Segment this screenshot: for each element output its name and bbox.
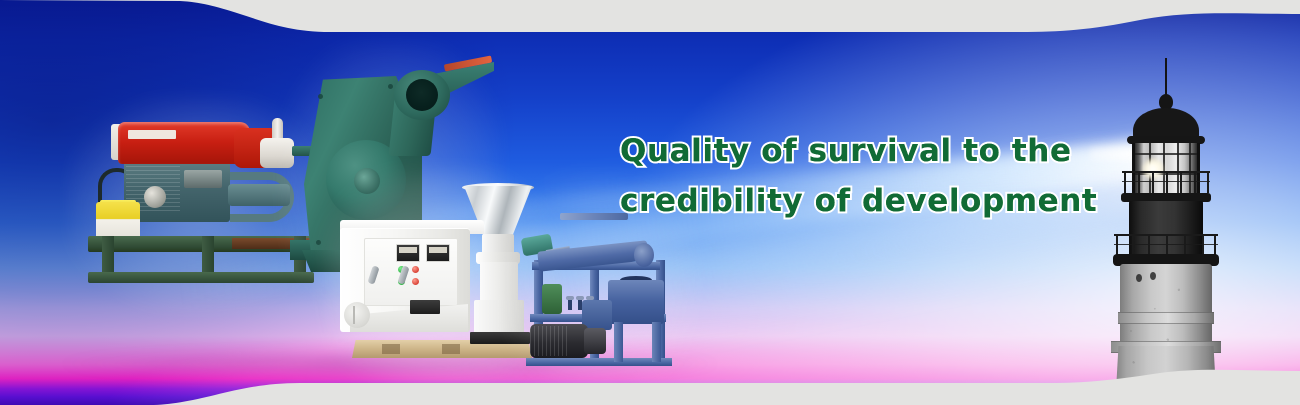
railing-post bbox=[1138, 171, 1140, 193]
engine-brand-label bbox=[128, 130, 176, 139]
engine-manifold bbox=[228, 184, 290, 206]
die-leg-right bbox=[652, 322, 661, 362]
railing-post bbox=[1132, 234, 1134, 256]
pallet-slot bbox=[382, 344, 400, 354]
valve-handle[interactable] bbox=[566, 296, 574, 300]
railing-post bbox=[1148, 234, 1150, 256]
railing-post bbox=[1124, 171, 1126, 193]
motor-pulley bbox=[584, 328, 606, 354]
pellet-mill-fan-vent bbox=[344, 302, 370, 328]
pellet-mill-plate bbox=[410, 300, 440, 314]
stone-texture bbox=[1112, 346, 1220, 405]
railing-post bbox=[1184, 234, 1186, 256]
blue-machine-hopper bbox=[561, 216, 627, 254]
lighthouse-base bbox=[1112, 346, 1220, 405]
diesel-engine bbox=[84, 110, 314, 295]
railing-post bbox=[1116, 234, 1118, 256]
stone-texture bbox=[1120, 264, 1212, 350]
railing-post bbox=[1166, 234, 1168, 256]
lantern-glazing-bar bbox=[1135, 153, 1197, 155]
aux-button-red[interactable] bbox=[412, 278, 419, 285]
headline-line-2: credibility of development bbox=[620, 176, 1090, 226]
railing-post bbox=[1207, 171, 1209, 193]
hammer-mill-bolt bbox=[316, 240, 321, 245]
gauge-face bbox=[429, 247, 447, 253]
lower-balcony-railing bbox=[1114, 234, 1218, 256]
pellet-mill-gauge-left bbox=[396, 244, 420, 262]
engine-red-cover bbox=[118, 122, 250, 164]
tower-window bbox=[1150, 272, 1156, 280]
railing-post bbox=[1152, 171, 1154, 193]
pellet-die-housing bbox=[608, 280, 664, 324]
screw-conveyor-end bbox=[634, 243, 654, 267]
motor-cooling-fins bbox=[530, 326, 568, 356]
pellet-mill-gauge-right bbox=[426, 244, 450, 262]
gauge-face bbox=[399, 247, 417, 253]
hammer-mill-bolt bbox=[388, 84, 393, 89]
lighthouse-tower bbox=[1120, 264, 1212, 350]
railing-post bbox=[1214, 234, 1216, 256]
railing-post bbox=[1180, 171, 1182, 193]
headline-line-1: Quality of survival to the bbox=[620, 126, 1090, 176]
railing-post bbox=[1166, 171, 1168, 193]
die-leg-left bbox=[614, 322, 623, 362]
engine-battery bbox=[96, 202, 140, 240]
fan-blade bbox=[353, 306, 355, 324]
lighthouse bbox=[1096, 58, 1246, 405]
lantern-gallery-railing bbox=[1122, 171, 1210, 195]
oil-tank bbox=[542, 284, 562, 314]
headline: Quality of survival to the credibility o… bbox=[620, 126, 1090, 226]
hammer-mill-inlet-opening bbox=[406, 79, 438, 111]
tower-window bbox=[1136, 274, 1142, 282]
pallet-slot bbox=[442, 344, 460, 354]
railing-post bbox=[1202, 234, 1204, 256]
promo-banner: Quality of survival to the credibility o… bbox=[0, 0, 1300, 405]
tower-band-upper bbox=[1118, 312, 1214, 324]
stop-button-red[interactable] bbox=[412, 266, 419, 273]
engine-panel bbox=[184, 170, 222, 188]
railing-post bbox=[1194, 171, 1196, 193]
lightning-rod bbox=[1165, 58, 1167, 98]
engine-frame-bottom bbox=[88, 272, 314, 283]
frame-rail-bottom bbox=[526, 358, 672, 366]
hammer-mill-bolt bbox=[318, 94, 323, 99]
engine-dial bbox=[144, 186, 166, 208]
